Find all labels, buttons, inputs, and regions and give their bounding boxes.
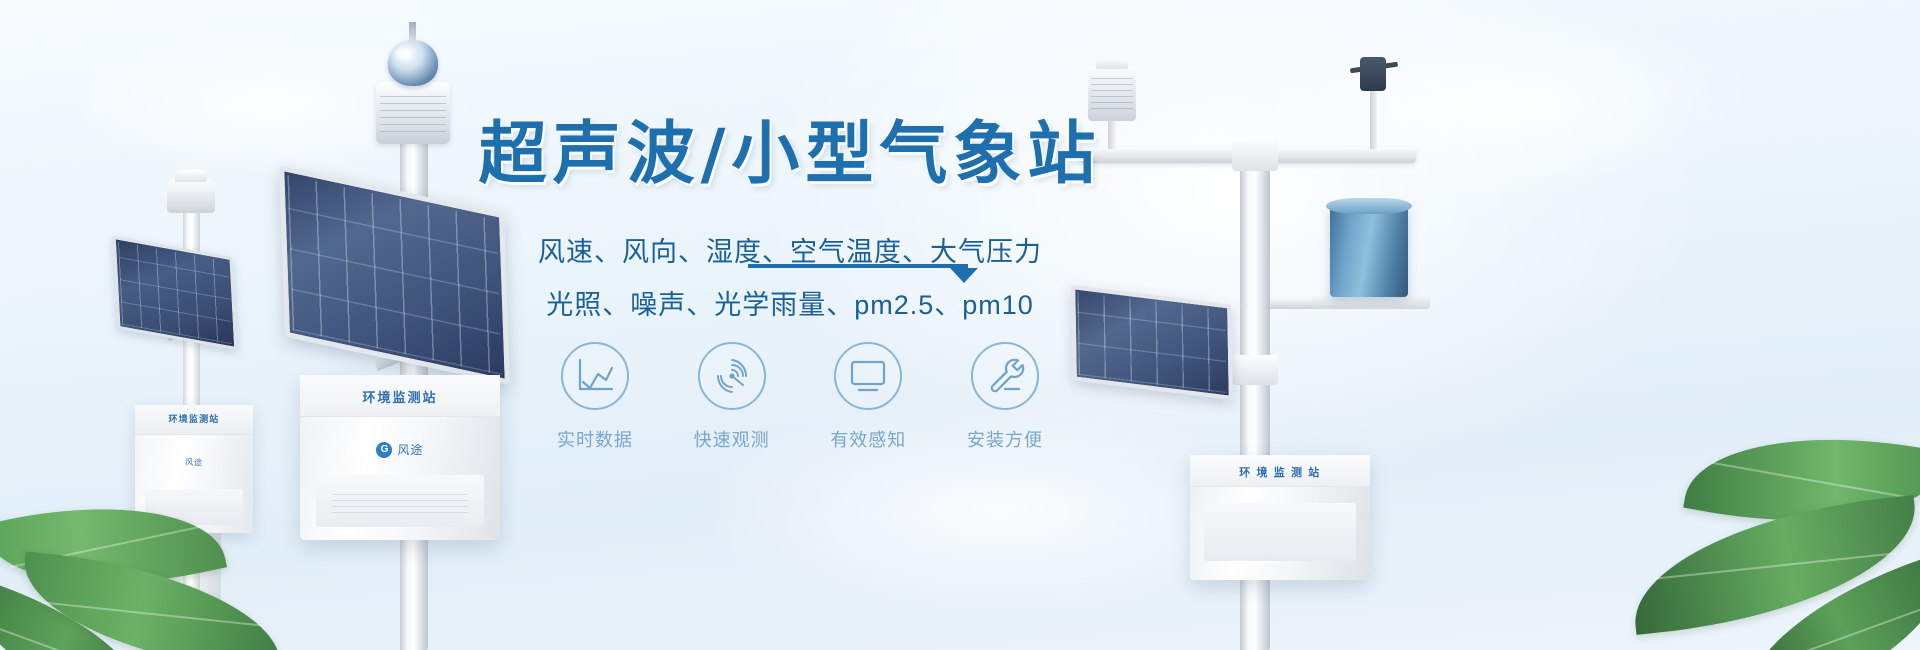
feature-label: 有效感知	[813, 426, 923, 452]
feature-label: 快速观测	[677, 426, 787, 452]
station-c-cabinet-door	[1204, 503, 1356, 561]
station-c-upper-collar	[1232, 139, 1278, 171]
line-chart-icon	[575, 357, 615, 395]
station-c-anemometer-stem	[1370, 89, 1377, 149]
feature-circle	[698, 342, 766, 410]
feature-circle	[834, 342, 902, 410]
station-a-cabinet-label: 环境监测站	[135, 412, 253, 425]
feature-item-realtime-data[interactable]: 实时数据	[540, 342, 650, 452]
leaf-left-decor	[0, 460, 320, 650]
station-c-rain-gauge	[1330, 205, 1408, 297]
feature-item-effective-sensing[interactable]: 有效感知	[813, 342, 923, 452]
leaf-vein	[1754, 603, 1920, 650]
station-a-solar-panel	[113, 236, 238, 350]
feature-subline-1: 风速、风向、湿度、空气温度、大气压力	[440, 230, 1140, 269]
station-a-sensor-head	[167, 179, 215, 213]
radar-signal-icon	[712, 356, 752, 396]
station-b-ultrasonic-sensor	[376, 82, 450, 144]
feature-item-fast-observation[interactable]: 快速观测	[677, 342, 787, 452]
station-b-lightning-spike	[409, 22, 416, 44]
station-c-anemometer	[1360, 57, 1386, 91]
page-title: 超声波/小型气象站	[440, 118, 1140, 193]
feature-subline-2: 光照、噪声、光学雨量、pm2.5、pm10	[440, 283, 1140, 322]
station-a-sensor-cap	[175, 170, 207, 182]
feature-circle	[561, 342, 629, 410]
station-b-radiation-dome	[388, 40, 438, 86]
leaf-right-decor	[1580, 430, 1920, 650]
feature-item-easy-install[interactable]: 安装方便	[950, 342, 1060, 452]
product-banner: 环境监测站 风途 环境监测站 G 风途	[0, 0, 1920, 650]
down-triangle-marker-icon	[950, 268, 978, 283]
station-c-lower-collar	[1232, 355, 1278, 385]
station-c-gauge-shelf	[1312, 295, 1430, 309]
feature-label: 安装方便	[950, 426, 1060, 452]
station-b-brand-text: 风途	[397, 441, 423, 458]
wrench-icon	[985, 356, 1025, 396]
station-c-cabinet: 环 境 监 测 站	[1190, 455, 1370, 580]
feature-icon-row: 实时数据 快	[540, 342, 1060, 452]
monitor-icon	[848, 359, 888, 393]
station-c-cabinet-label: 环 境 监 测 站	[1190, 464, 1370, 480]
leaf-vein	[1654, 552, 1896, 579]
banner-content: 超声波/小型气象站 风速、风向、湿度、空气温度、大气压力 光照、噪声、光学雨量、…	[440, 0, 1140, 650]
leaf-vein	[1711, 462, 1918, 500]
feature-label: 实时数据	[540, 426, 650, 452]
feature-circle	[971, 342, 1039, 410]
brand-logo-icon: G	[376, 442, 392, 458]
